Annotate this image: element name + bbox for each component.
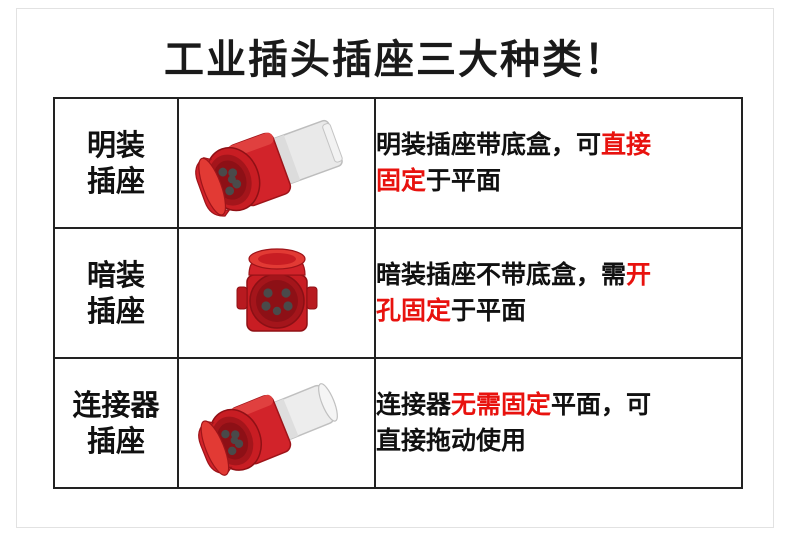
row-label-line2: 插座 [55,163,177,199]
row-label-line1: 暗装 [55,257,177,293]
page-root: 工业插头插座三大种类！ 明装 插座 [0,0,790,545]
flush-socket-svg [182,233,372,353]
table-row: 明装 插座 [54,98,742,228]
desc-text-plain: 连接器无需固定平面，可直接拖动使用 [376,390,651,455]
desc-text-plain: 暗装插座不带底盒，需开孔固定于平面 [376,260,651,325]
row-image-flush [178,228,375,358]
row-desc-flush: 暗装插座不带底盒，需开孔固定于平面 [375,228,742,358]
row-desc-connector: 连接器无需固定平面，可直接拖动使用 [375,358,742,488]
row-desc-surface: 明装插座带底盒，可直接固定于平面 [375,98,742,228]
row-image-connector [178,358,375,488]
flush-mounted-socket-image [182,233,372,353]
socket-types-table: 明装 插座 [53,97,743,489]
page-title: 工业插头插座三大种类！ [17,27,773,85]
row-image-surface [178,98,375,228]
row-label-line2: 插座 [55,293,177,329]
table-row: 暗装 插座 [54,228,742,358]
surface-mounted-socket-image [182,103,372,223]
connector-socket-image [182,363,372,483]
desc-text-plain: 明装插座带底盒，可直接固定于平面 [376,130,651,195]
surface-socket-svg [182,103,372,223]
row-label-flush: 暗装 插座 [54,228,178,358]
row-label-connector: 连接器 插座 [54,358,178,488]
row-label-line1: 连接器 [55,387,177,423]
row-label-line2: 插座 [55,423,177,459]
row-label-line1: 明装 [55,127,177,163]
info-card: 工业插头插座三大种类！ 明装 插座 [16,8,774,528]
row-label-surface: 明装 插座 [54,98,178,228]
connector-socket-svg [182,363,372,483]
table-row: 连接器 插座 [54,358,742,488]
